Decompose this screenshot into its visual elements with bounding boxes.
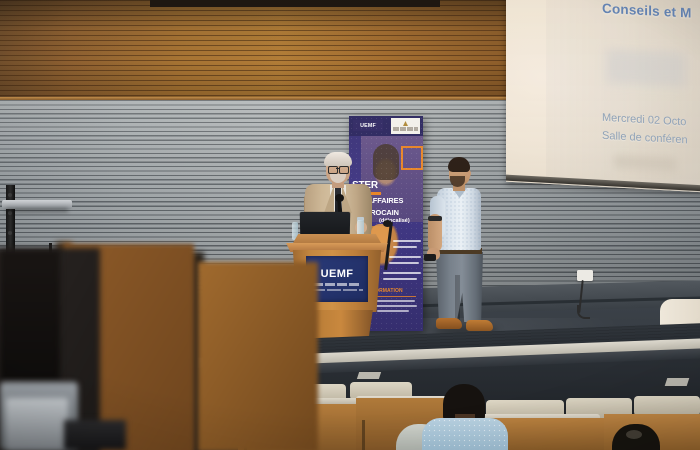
standing-man-shoe <box>436 318 462 329</box>
presenter-hair <box>324 152 352 166</box>
banner-footer-line <box>371 305 417 307</box>
banner-body-text-line <box>389 256 421 258</box>
mobile-phone <box>424 254 436 261</box>
projected-graphic <box>606 49 686 87</box>
presenter-laptop-screen[interactable] <box>300 212 351 238</box>
podium-sign-subtext-latin <box>311 289 363 291</box>
banner-body-text-line <box>393 240 421 242</box>
seat-divider <box>362 420 365 450</box>
hair-highlight <box>626 430 642 439</box>
floor-marking <box>357 372 381 379</box>
banner-microphone-head-graphic <box>383 220 392 227</box>
podium-sign-subtext-arabic <box>313 283 361 286</box>
banner-footer-line <box>371 300 415 302</box>
foreground-dark-panel <box>0 250 60 380</box>
ceiling-recess <box>150 0 440 7</box>
foreground-dark-object <box>64 420 126 450</box>
floor-marking <box>665 378 690 386</box>
projection-screen: Conseils et M Mercredi 02 Octo Salle de … <box>506 0 700 192</box>
blue-shirt-pattern <box>422 418 508 450</box>
eyeglasses-right-lens <box>339 166 349 174</box>
eyeglasses-bridge <box>336 168 339 169</box>
microphone-head <box>335 194 344 202</box>
wristwatch <box>428 216 442 221</box>
banner-base-shadow <box>6 208 68 212</box>
podium-sign-text: UEMF <box>321 268 354 280</box>
foreground-seat-back <box>198 262 318 450</box>
banner-footer-line <box>377 310 409 312</box>
banner-body-text-line <box>383 272 421 274</box>
standing-man-hair <box>448 157 470 172</box>
standing-man-shoe <box>466 320 493 331</box>
seat-headrest <box>634 396 700 416</box>
wall-outlet[interactable] <box>577 270 593 281</box>
standing-man-leg-shading <box>455 275 460 323</box>
banner-body-text-line <box>383 278 417 280</box>
foreground-laptop-lid <box>6 398 68 450</box>
banner-body-text-line <box>389 262 419 264</box>
banner-body-text-line <box>393 246 417 248</box>
power-cable-loop <box>577 305 590 319</box>
conference-photo: Conseils et M Mercredi 02 Octo Salle de … <box>0 0 700 450</box>
